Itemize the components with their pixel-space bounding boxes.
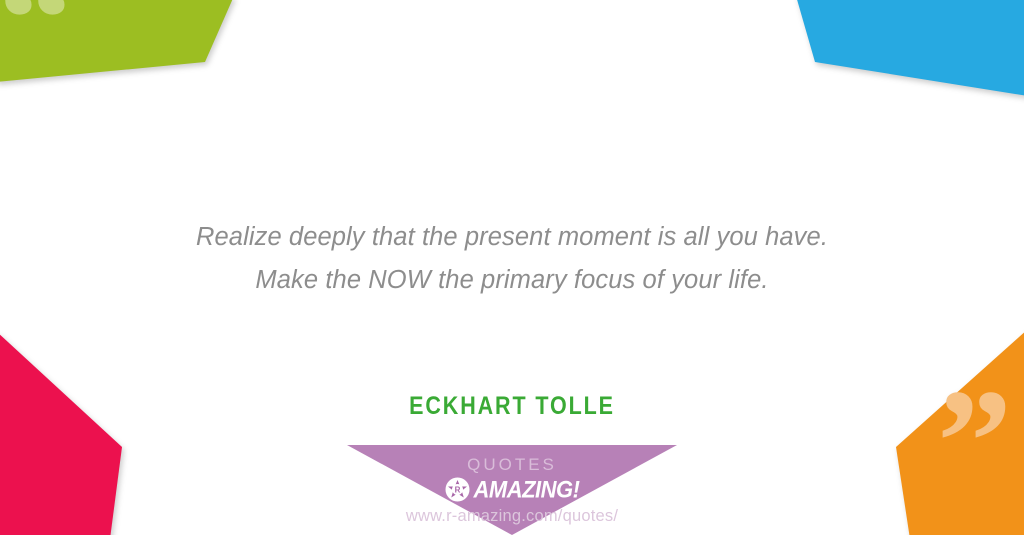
badge-url-text[interactable]: www.r-amazing.com/quotes/ [406, 508, 618, 525]
quote-line-2: Make the NOW the primary focus of your l… [110, 259, 914, 302]
site-badge[interactable]: QUOTES R AMAZING! www.r-amazing.com/quot… [347, 445, 677, 535]
badge-quotes-label: QUOTES [467, 456, 557, 473]
pink-corner-polygon [0, 331, 122, 535]
r-star-logo-icon: R [445, 477, 470, 502]
quote-text-block: Realize deeply that the present moment i… [0, 216, 1024, 302]
close-quote-icon: ” [937, 367, 1012, 517]
quote-graphic-canvas: “ ” Realize deeply that the present mome… [0, 0, 1024, 535]
green-corner-shape: “ [0, 0, 242, 100]
badge-content: QUOTES R AMAZING! www.r-amazing.com/quot… [347, 445, 677, 535]
badge-monogram-letter: R [454, 486, 460, 495]
badge-brand-text: AMAZING! [474, 478, 580, 502]
orange-corner-shape: ” [878, 319, 1024, 535]
pink-corner-shape [0, 319, 136, 535]
blue-corner-polygon [796, 0, 1024, 96]
quote-line-1: Realize deeply that the present moment i… [110, 216, 914, 259]
open-quote-icon: “ [0, 0, 73, 94]
author-name: ECKHART TOLLE [72, 392, 953, 421]
blue-corner-shape [782, 0, 1024, 100]
badge-logo-row: R AMAZING! [445, 477, 580, 502]
